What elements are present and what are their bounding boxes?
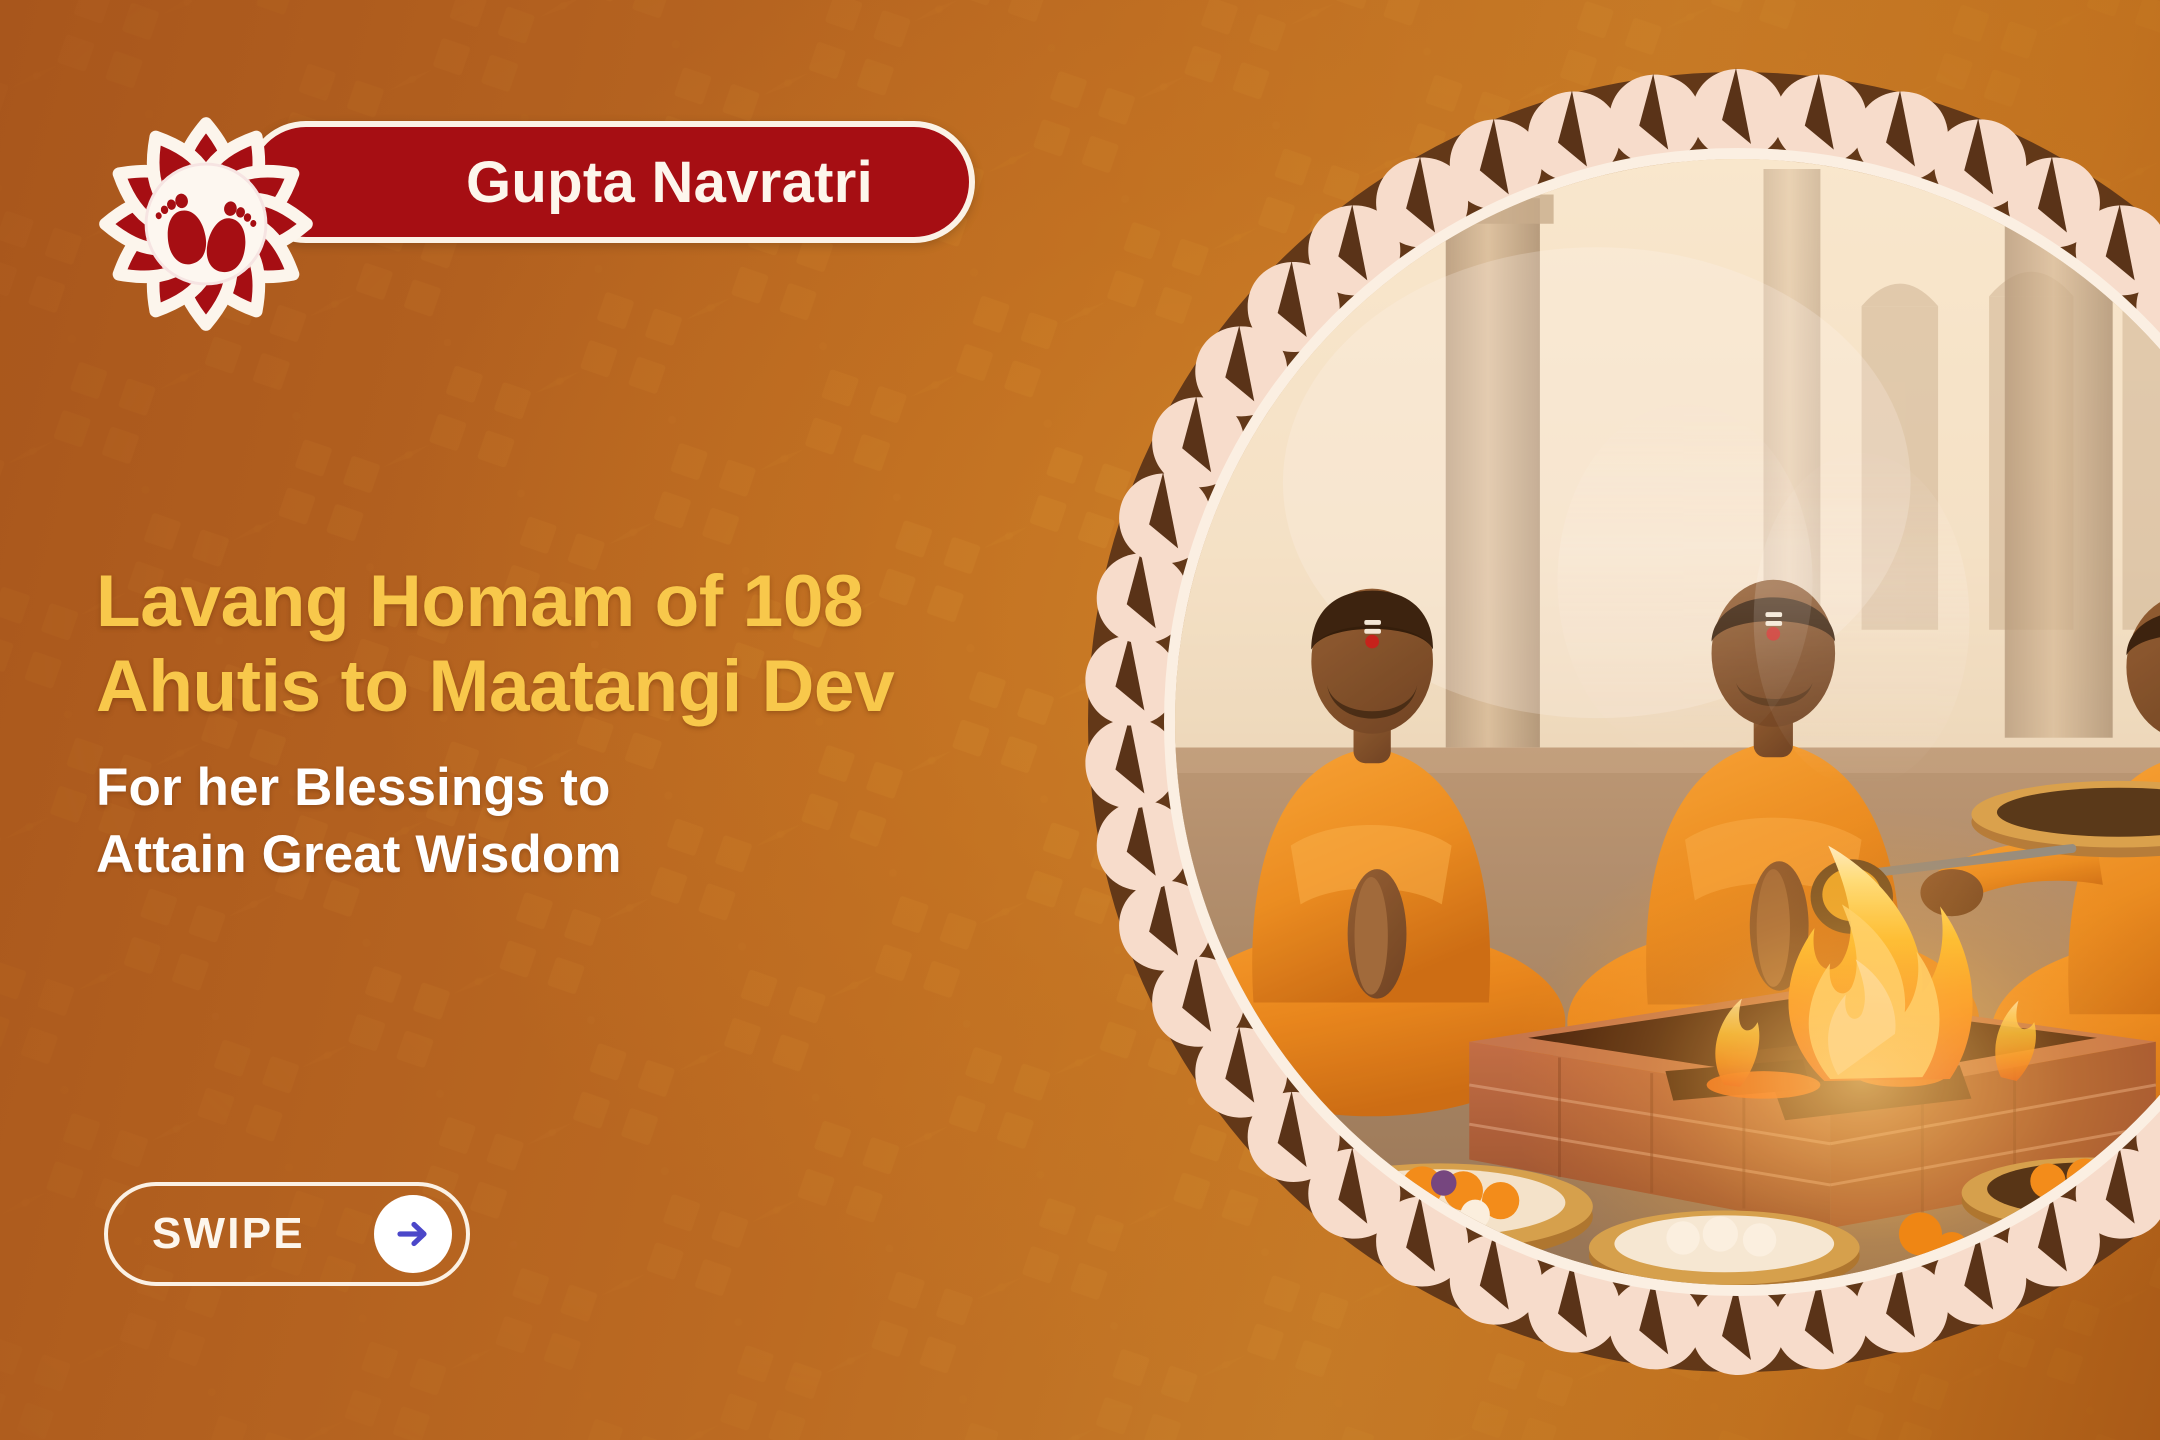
lotus-footprints-icon <box>90 108 322 340</box>
headline-line-1: Lavang Homam of 108 <box>96 560 1096 645</box>
headline-line-2: Ahutis to Maatangi Dev <box>96 645 1096 730</box>
photo-medallion <box>1078 62 2160 1382</box>
ritual-photo <box>1164 148 2160 1296</box>
arrow-right-icon[interactable] <box>374 1195 452 1273</box>
brand-logo-badge[interactable]: Gupta Navratri <box>90 108 322 340</box>
subheading-block: For her Blessings to Attain Great Wisdom <box>96 755 1096 889</box>
banner-canvas: Gupta Navratri <box>0 0 2160 1440</box>
brand-pill[interactable]: Gupta Navratri <box>245 121 975 243</box>
swipe-label: SWIPE <box>152 1209 305 1259</box>
subheading-line-1: For her Blessings to <box>96 755 1096 822</box>
brand-name-label: Gupta Navratri <box>466 149 873 216</box>
subheading-line-2: Attain Great Wisdom <box>96 822 1096 889</box>
headline-block: Lavang Homam of 108 Ahutis to Maatangi D… <box>96 560 1096 889</box>
swipe-button[interactable]: SWIPE <box>104 1182 470 1286</box>
